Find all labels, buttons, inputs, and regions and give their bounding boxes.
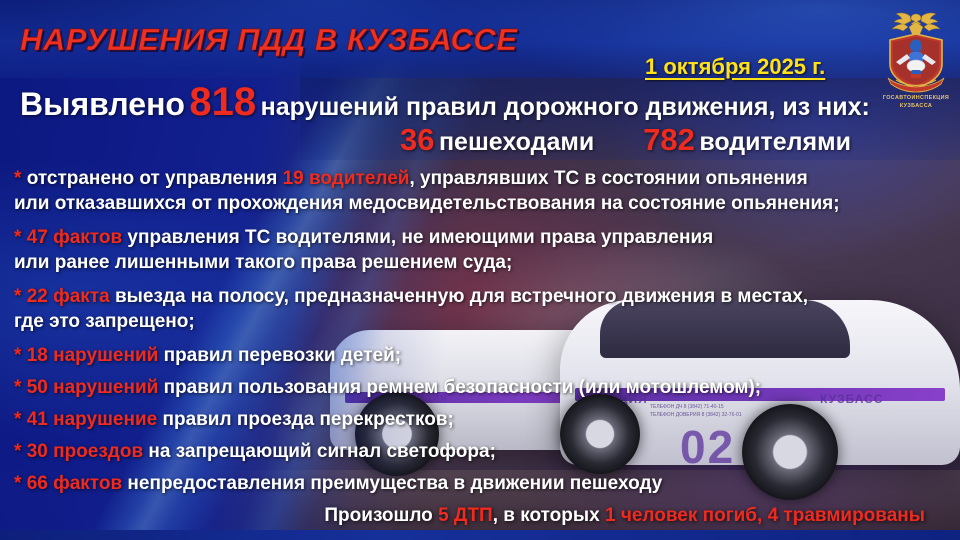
pedestrians-count: 36 — [400, 122, 434, 157]
violation-count: 18 нарушений — [27, 345, 159, 366]
summary-total-count: 818 — [189, 80, 256, 124]
summary-breakdown-line: 36 пешеходами 782 водителями — [400, 122, 851, 158]
footer-part-2: , в которых — [493, 505, 605, 526]
violation-text: правил проезда перекрестков; — [157, 409, 454, 430]
violation-text: отстранено от управления — [27, 168, 283, 189]
poster-title: НАРУШЕНИЯ ПДД В КУЗБАССЕ — [20, 22, 518, 58]
violation-item-continuation: или ранее лишенными такого права решение… — [14, 250, 914, 275]
infographic-poster: ПОЛИЦИЯ ПОЛИЦИЯ КУЗБАСС ТЕЛЕФОН ДЧ 8 (38… — [0, 0, 960, 540]
bullet-star-icon: * — [14, 227, 27, 248]
violation-count: 22 факта — [27, 286, 110, 307]
violation-item: * 50 нарушений правил пользования ремнем… — [14, 375, 914, 400]
footer-part-1: Произошло — [324, 505, 438, 526]
violation-count: 41 нарушение — [27, 409, 158, 430]
summary-tail: нарушений правил дорожного движения, из … — [261, 93, 870, 121]
footer-casualties: 1 человек погиб, 4 травмированы — [605, 505, 925, 526]
violation-text: правил пользования ремнем безопасности (… — [158, 377, 761, 398]
violation-count: 47 фактов — [27, 227, 122, 248]
violation-text: выезда на полосу, предназначенную для вс… — [110, 286, 808, 307]
violation-text: на запрещающий сигнал светофора; — [143, 441, 496, 462]
violation-item: * 18 нарушений правил перевозки детей; — [14, 343, 914, 368]
violation-text: , управлявших ТС в состоянии опьянения — [409, 168, 807, 189]
violation-text: правил перевозки детей; — [158, 345, 401, 366]
bullet-star-icon: * — [14, 168, 27, 189]
emblem-caption-line1: ГОСАВТОИНСПЕКЦИЯ — [880, 95, 952, 103]
bullet-star-icon: * — [14, 345, 27, 366]
violation-item: * 30 проездов на запрещающий сигнал свет… — [14, 439, 914, 464]
violation-count: 66 фактов — [27, 473, 122, 494]
gosavtoinspekciya-emblem: ГОСАВТОИНСПЕКЦИЯ КУЗБАССА — [880, 8, 952, 116]
violation-item: * 41 нарушение правил проезда перекрестк… — [14, 407, 914, 432]
violation-count: 19 водителей — [283, 168, 410, 189]
bullet-star-icon: * — [14, 409, 27, 430]
bullet-star-icon: * — [14, 286, 27, 307]
violation-text: непредоставления преимущества в движении… — [122, 473, 662, 494]
report-date: 1 октября 2025 г. — [645, 54, 825, 80]
emblem-caption-line2: КУЗБАССА — [880, 103, 952, 111]
drivers-count: 782 — [643, 122, 695, 157]
summary-main-line: Выявлено 818 нарушений правил дорожного … — [20, 80, 870, 125]
violation-item: * 66 фактов непредоставления преимуществ… — [14, 471, 914, 496]
violation-item: * 22 факта выезда на полосу, предназначе… — [14, 284, 914, 309]
violation-text: управления ТС водителями, не имеющими пр… — [122, 227, 713, 248]
emblem-caption: ГОСАВТОИНСПЕКЦИЯ КУЗБАССА — [880, 95, 952, 111]
accidents-footer: Произошло 5 ДТП, в которых 1 человек пог… — [0, 505, 925, 527]
bullet-star-icon: * — [14, 377, 27, 398]
footer-accidents-count: 5 ДТП — [438, 505, 493, 526]
bullet-star-icon: * — [14, 473, 27, 494]
summary-lead: Выявлено — [20, 86, 185, 122]
violation-count: 50 нарушений — [27, 377, 159, 398]
violation-item: * 47 фактов управления ТС водителями, не… — [14, 225, 914, 250]
violation-item-continuation: где это запрещено; — [14, 309, 914, 334]
bullet-star-icon: * — [14, 441, 27, 462]
violations-list: * отстранено от управления 19 водителей,… — [14, 166, 914, 496]
violation-item: * отстранено от управления 19 водителей,… — [14, 166, 914, 191]
drivers-label: водителями — [699, 128, 851, 156]
violation-count: 30 проездов — [27, 441, 143, 462]
pedestrians-label: пешеходами — [439, 128, 594, 156]
violation-item-continuation: или отказавшихся от прохождения медосвид… — [14, 191, 914, 216]
